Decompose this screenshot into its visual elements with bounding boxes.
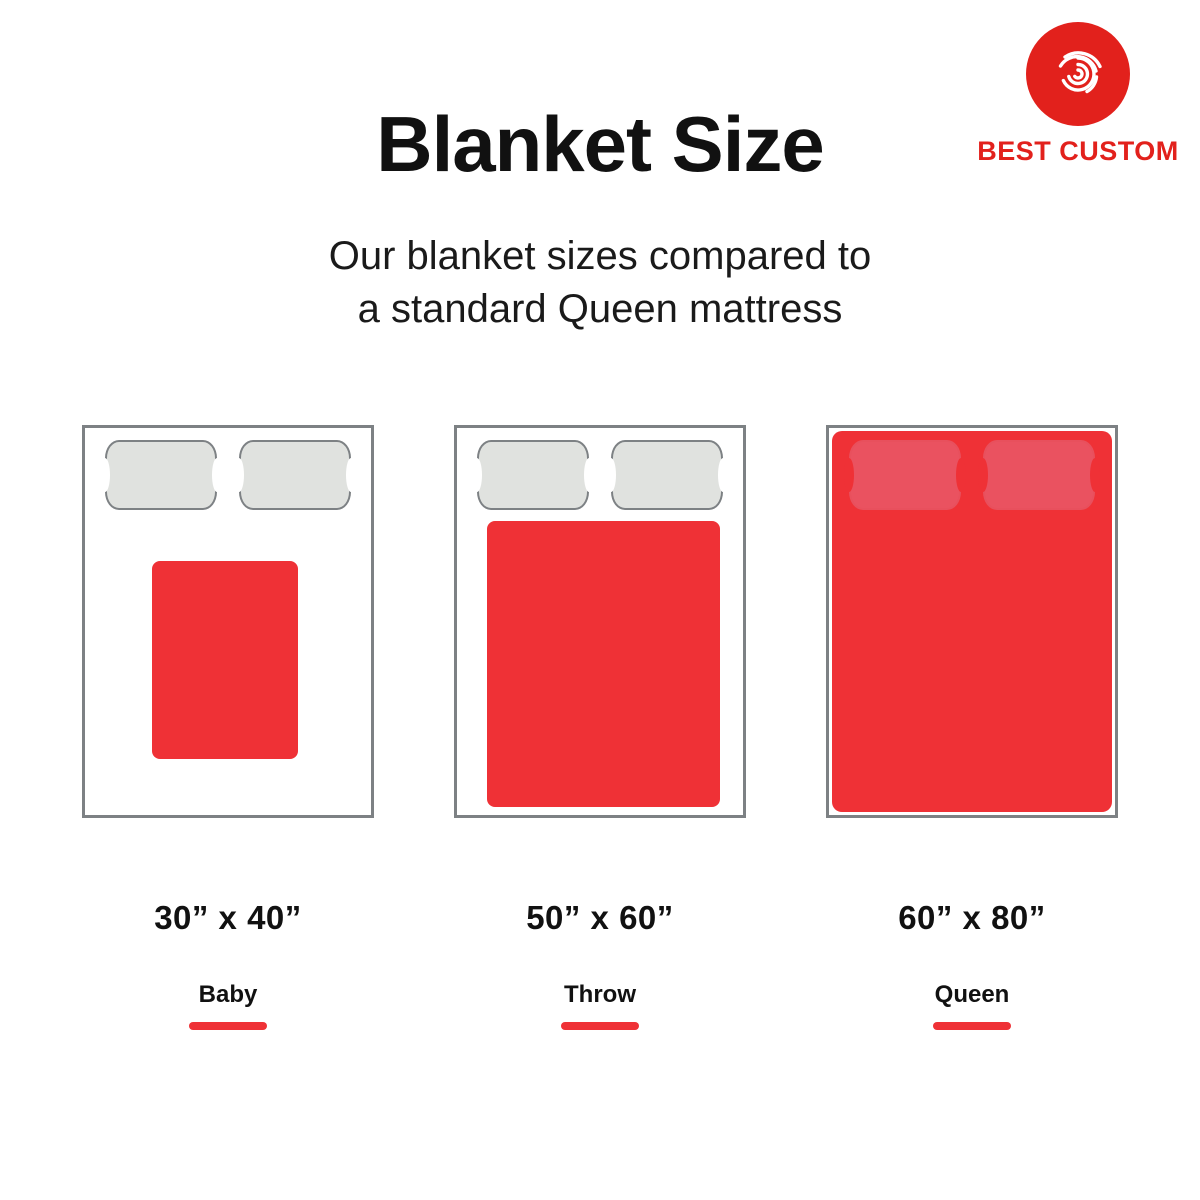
pillow-right-icon — [611, 440, 723, 510]
pillow-right-icon — [983, 440, 1095, 510]
page-title: Blanket Size — [0, 104, 1200, 186]
size-dimensions-throw: 50” x 60” — [454, 900, 746, 936]
size-name-throw: Throw — [454, 982, 746, 1008]
bed-diagram-baby — [82, 425, 374, 818]
pillow-right-icon — [239, 440, 351, 510]
size-label-group: 30” x 40” Baby 50” x 60” Throw 60” x 80”… — [0, 900, 1200, 1060]
size-name-baby: Baby — [82, 982, 374, 1008]
page-subtitle: Our blanket sizes compared to a standard… — [0, 230, 1200, 336]
subtitle-line-2: a standard Queen mattress — [0, 283, 1200, 336]
pillow-left-icon — [849, 440, 961, 510]
bed-diagram-queen — [826, 425, 1118, 818]
underline-accent-bar — [933, 1022, 1011, 1030]
bed-diagram-group — [0, 425, 1200, 820]
underline-accent-bar — [561, 1022, 639, 1030]
size-name-queen: Queen — [826, 982, 1118, 1008]
pillow-left-icon — [477, 440, 589, 510]
size-dimensions-queen: 60” x 80” — [826, 900, 1118, 936]
size-label-throw: 50” x 60” Throw — [454, 900, 746, 1030]
underline-accent-bar — [189, 1022, 267, 1030]
blanket-throw — [487, 521, 720, 807]
pillow-left-icon — [105, 440, 217, 510]
blanket-baby — [152, 561, 298, 759]
subtitle-line-1: Our blanket sizes compared to — [0, 230, 1200, 283]
size-label-baby: 30” x 40” Baby — [82, 900, 374, 1030]
size-label-queen: 60” x 80” Queen — [826, 900, 1118, 1030]
size-dimensions-baby: 30” x 40” — [82, 900, 374, 936]
bed-diagram-throw — [454, 425, 746, 818]
